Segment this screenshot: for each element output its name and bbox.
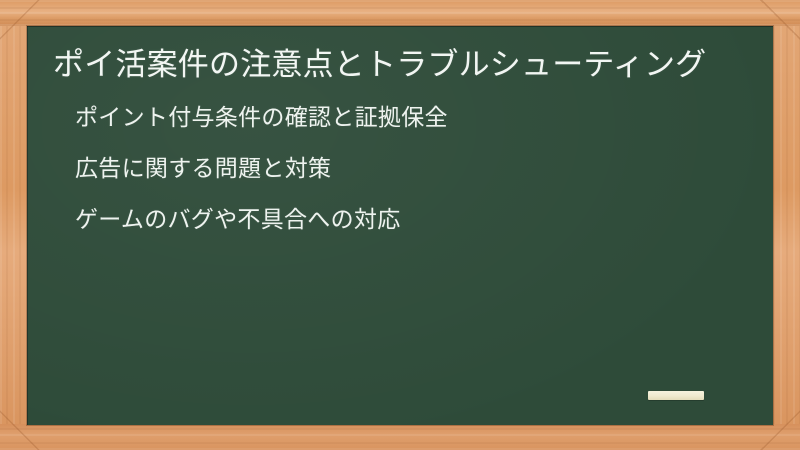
- chalk-stick-icon: [648, 391, 704, 400]
- bullet-item-3: ゲームのバグや不具合への対応: [75, 209, 747, 232]
- frame-rail-top: [0, 0, 800, 26]
- frame-rail-bottom: [0, 424, 800, 450]
- chalkboard-surface: ポイ活案件の注意点とトラブルシューティング ポイント付与条件の確認と証拠保全 広…: [27, 26, 773, 425]
- slide-bullet-list: ポイント付与条件の確認と証拠保全 広告に関する問題と対策 ゲームのバグや不具合へ…: [53, 87, 747, 232]
- chalkboard-slide: ポイ活案件の注意点とトラブルシューティング ポイント付与条件の確認と証拠保全 広…: [0, 0, 800, 450]
- bullet-item-2: 広告に関する問題と対策: [75, 158, 747, 181]
- bullet-item-1: ポイント付与条件の確認と証拠保全: [75, 107, 747, 130]
- slide-title: ポイ活案件の注意点とトラブルシューティング: [53, 26, 718, 87]
